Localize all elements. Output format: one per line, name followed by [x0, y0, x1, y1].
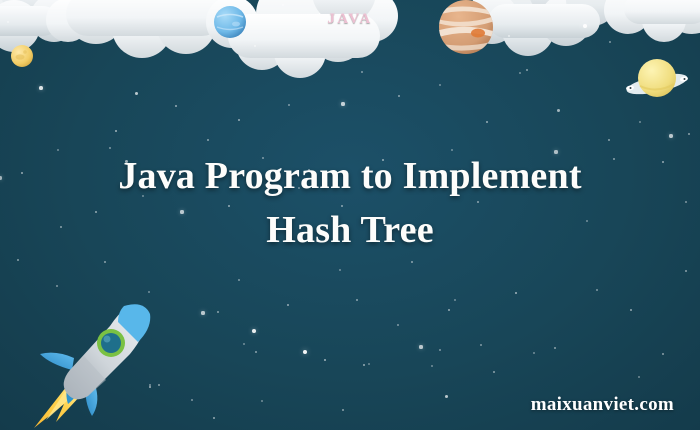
rocket-illustration [26, 298, 162, 430]
page-title-line-1: Java Program to Implement [40, 150, 660, 204]
page-title-line-2: Hash Tree [40, 204, 660, 258]
moon-planet [11, 45, 33, 67]
page-title: Java Program to Implement Hash Tree [40, 150, 660, 258]
rocket-window [97, 329, 125, 357]
brand-label: JAVA [0, 11, 700, 28]
site-watermark: maixuanviet.com [531, 394, 674, 416]
rocket-fin-lower [40, 353, 74, 370]
saturn-planet [625, 59, 689, 98]
poster-canvas: JAVA Java Program to Implement Hash Tree… [0, 0, 700, 430]
